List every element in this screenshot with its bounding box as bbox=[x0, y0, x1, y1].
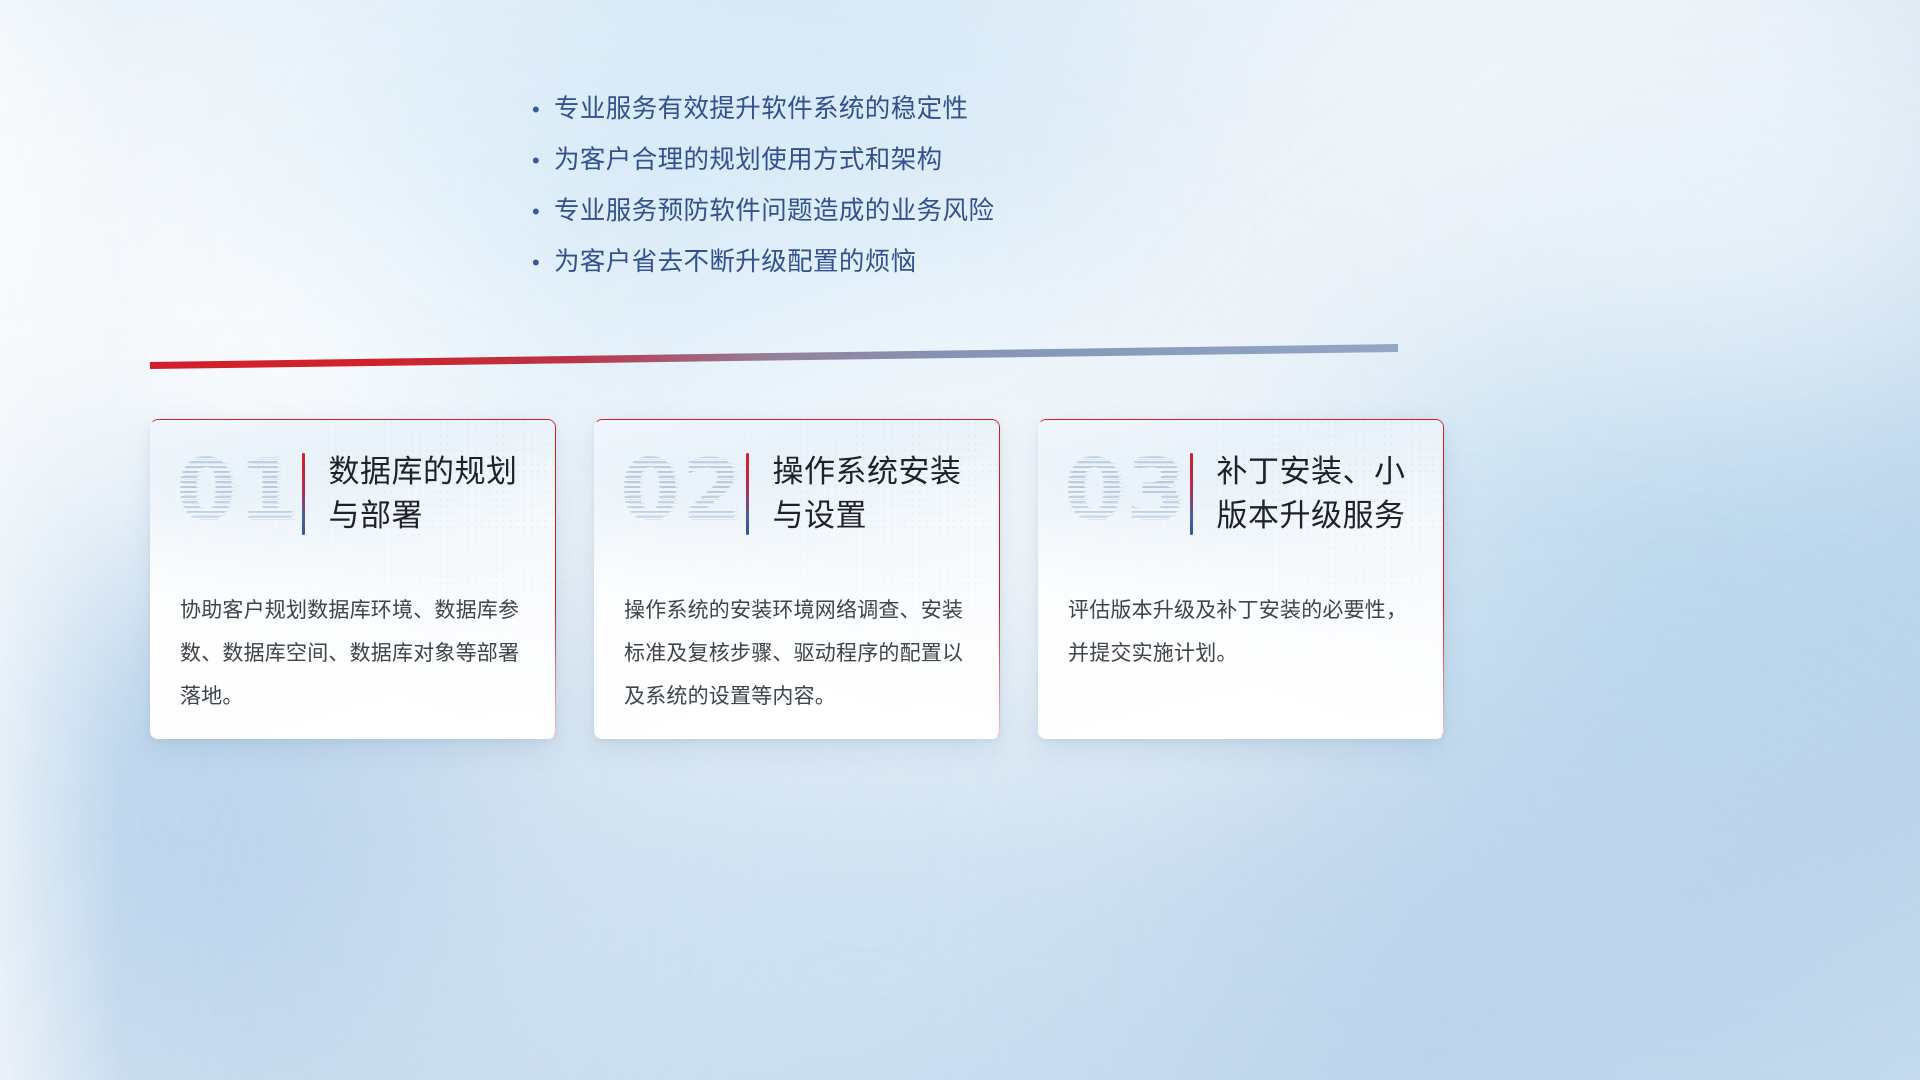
card-number-badge: 02 02 bbox=[620, 442, 742, 546]
card-header: 03 03 补丁安装、小 版本升级服务 bbox=[1038, 419, 1444, 569]
list-item: • 为客户省去不断升级配置的烦恼 bbox=[532, 241, 1432, 292]
bullet-dot-icon: • bbox=[532, 99, 554, 121]
bullet-text: 为客户省去不断升级配置的烦恼 bbox=[554, 241, 917, 278]
bullet-text: 专业服务预防软件问题造成的业务风险 bbox=[554, 190, 994, 227]
card-header: 01 01 数据库的规划 与部署 bbox=[150, 419, 556, 569]
benefits-bullet-list: • 专业服务有效提升软件系统的稳定性 • 为客户合理的规划使用方式和架构 • 专… bbox=[532, 88, 1432, 292]
card-description: 评估版本升级及补丁安装的必要性，并提交实施计划。 bbox=[1038, 569, 1444, 675]
list-item: • 为客户合理的规划使用方式和架构 bbox=[532, 139, 1432, 190]
card-number-badge: 01 01 bbox=[176, 442, 298, 546]
card-number-badge: 03 03 bbox=[1064, 442, 1186, 546]
bullet-dot-icon: • bbox=[532, 201, 554, 223]
card-title: 补丁安装、小 版本升级服务 bbox=[1217, 450, 1406, 538]
card-description: 协助客户规划数据库环境、数据库参数、数据库空间、数据库对象等部署落地。 bbox=[150, 569, 556, 718]
background-left-streak bbox=[0, 0, 120, 1080]
background-glow-8 bbox=[1180, 720, 1900, 1080]
background-glow-7 bbox=[420, 760, 1300, 1080]
service-card[interactable]: 01 01 数据库的规划 与部署 协助客户规划数据库环境、数据库参数、数据库空间… bbox=[150, 419, 556, 739]
bullet-text: 专业服务有效提升软件系统的稳定性 bbox=[554, 88, 968, 125]
card-header: 02 02 操作系统安装 与设置 bbox=[594, 419, 1000, 569]
bullet-dot-icon: • bbox=[532, 252, 554, 274]
card-title: 数据库的规划 与部署 bbox=[329, 450, 518, 538]
card-title: 操作系统安装 与设置 bbox=[773, 450, 962, 538]
list-item: • 专业服务预防软件问题造成的业务风险 bbox=[532, 190, 1432, 241]
bullet-dot-icon: • bbox=[532, 150, 554, 172]
card-number: 01 bbox=[176, 436, 300, 546]
card-description: 操作系统的安装环境网络调查、安装标准及复核步骤、驱动程序的配置以及系统的设置等内… bbox=[594, 569, 1000, 718]
service-card[interactable]: 02 02 操作系统安装 与设置 操作系统的安装环境网络调查、安装标准及复核步骤… bbox=[594, 419, 1000, 739]
bullet-text: 为客户合理的规划使用方式和架构 bbox=[554, 139, 943, 176]
card-number: 03 bbox=[1064, 436, 1188, 546]
background-glow-10 bbox=[1460, 40, 1920, 340]
service-card[interactable]: 03 03 补丁安装、小 版本升级服务 评估版本升级及补丁安装的必要性，并提交实… bbox=[1038, 419, 1444, 739]
list-item: • 专业服务有效提升软件系统的稳定性 bbox=[532, 88, 1432, 139]
accent-diagonal-line bbox=[150, 340, 1398, 370]
card-number: 02 bbox=[620, 436, 744, 546]
slide-canvas: • 专业服务有效提升软件系统的稳定性 • 为客户合理的规划使用方式和架构 • 专… bbox=[0, 0, 1920, 1080]
service-card-list: 01 01 数据库的规划 与部署 协助客户规划数据库环境、数据库参数、数据库空间… bbox=[150, 419, 1450, 739]
